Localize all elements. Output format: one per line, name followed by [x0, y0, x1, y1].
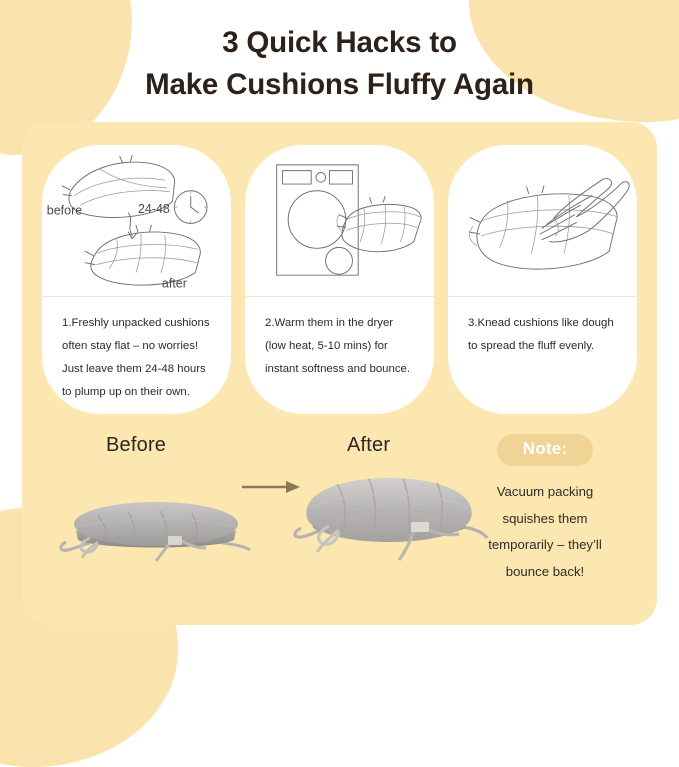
note-text-line-3: temporarily – they’ll [451, 532, 639, 559]
note-body: Vacuum packing squishes them temporarily… [451, 479, 639, 586]
comparison-after-label: After [347, 434, 390, 457]
note-pill-label: Note: [497, 434, 593, 466]
page-title-line-1: 3 Quick Hacks to [0, 22, 679, 64]
before-after-section: Before After [42, 432, 637, 622]
note-box: Note: Vacuum packing squishes them tempo… [451, 434, 639, 586]
card-2-text-line-2: (low heat, 5-10 mins) for [265, 335, 414, 358]
main-panel: before 24-48 [22, 122, 657, 625]
card-1-text-line-2: often stay flat – no worries! [62, 335, 211, 358]
card-1-text-line-3: Just leave them 24-48 hours [62, 358, 211, 381]
card-1-after-label: after [162, 277, 187, 291]
card-2-text-line-3: instant softness and bounce. [265, 358, 414, 381]
card-3-text-line-1: 3.Knead cushions like dough [468, 312, 617, 335]
card-2-text: 2.Warm them in the dryer (low heat, 5-10… [245, 297, 434, 414]
comparison-cushion-before [56, 486, 256, 566]
hack-card-3: 3.Knead cushions like dough to spread th… [448, 145, 637, 414]
comparison-before-label: Before [106, 434, 166, 457]
card-3-text-line-2: to spread the fluff evenly. [468, 335, 617, 358]
card-1-text-line-4: to plump up on their own. [62, 381, 211, 404]
card-1-illustration: before 24-48 [42, 145, 231, 297]
card-1-duration-label: 24-48 [138, 202, 170, 216]
card-1-before-label: before [47, 204, 82, 218]
card-3-text: 3.Knead cushions like dough to spread th… [448, 297, 637, 414]
page-header: 3 Quick Hacks to Make Cushions Fluffy Ag… [0, 0, 679, 106]
card-2-illustration [245, 145, 434, 297]
hack-cards-row: before 24-48 [42, 145, 637, 414]
card-3-illustration [448, 145, 637, 297]
hack-card-1: before 24-48 [42, 145, 231, 414]
note-text-line-2: squishes them [451, 506, 639, 533]
page-title: 3 Quick Hacks to Make Cushions Fluffy Ag… [0, 22, 679, 106]
card-1-text-line-1: 1.Freshly unpacked cushions [62, 312, 211, 335]
note-text-line-4: bounce back! [451, 559, 639, 586]
page-title-line-2: Make Cushions Fluffy Again [0, 64, 679, 106]
hack-card-2: 2.Warm them in the dryer (low heat, 5-10… [245, 145, 434, 414]
card-1-text: 1.Freshly unpacked cushions often stay f… [42, 297, 231, 414]
card-2-text-line-1: 2.Warm them in the dryer [265, 312, 414, 335]
note-text-line-1: Vacuum packing [451, 479, 639, 506]
